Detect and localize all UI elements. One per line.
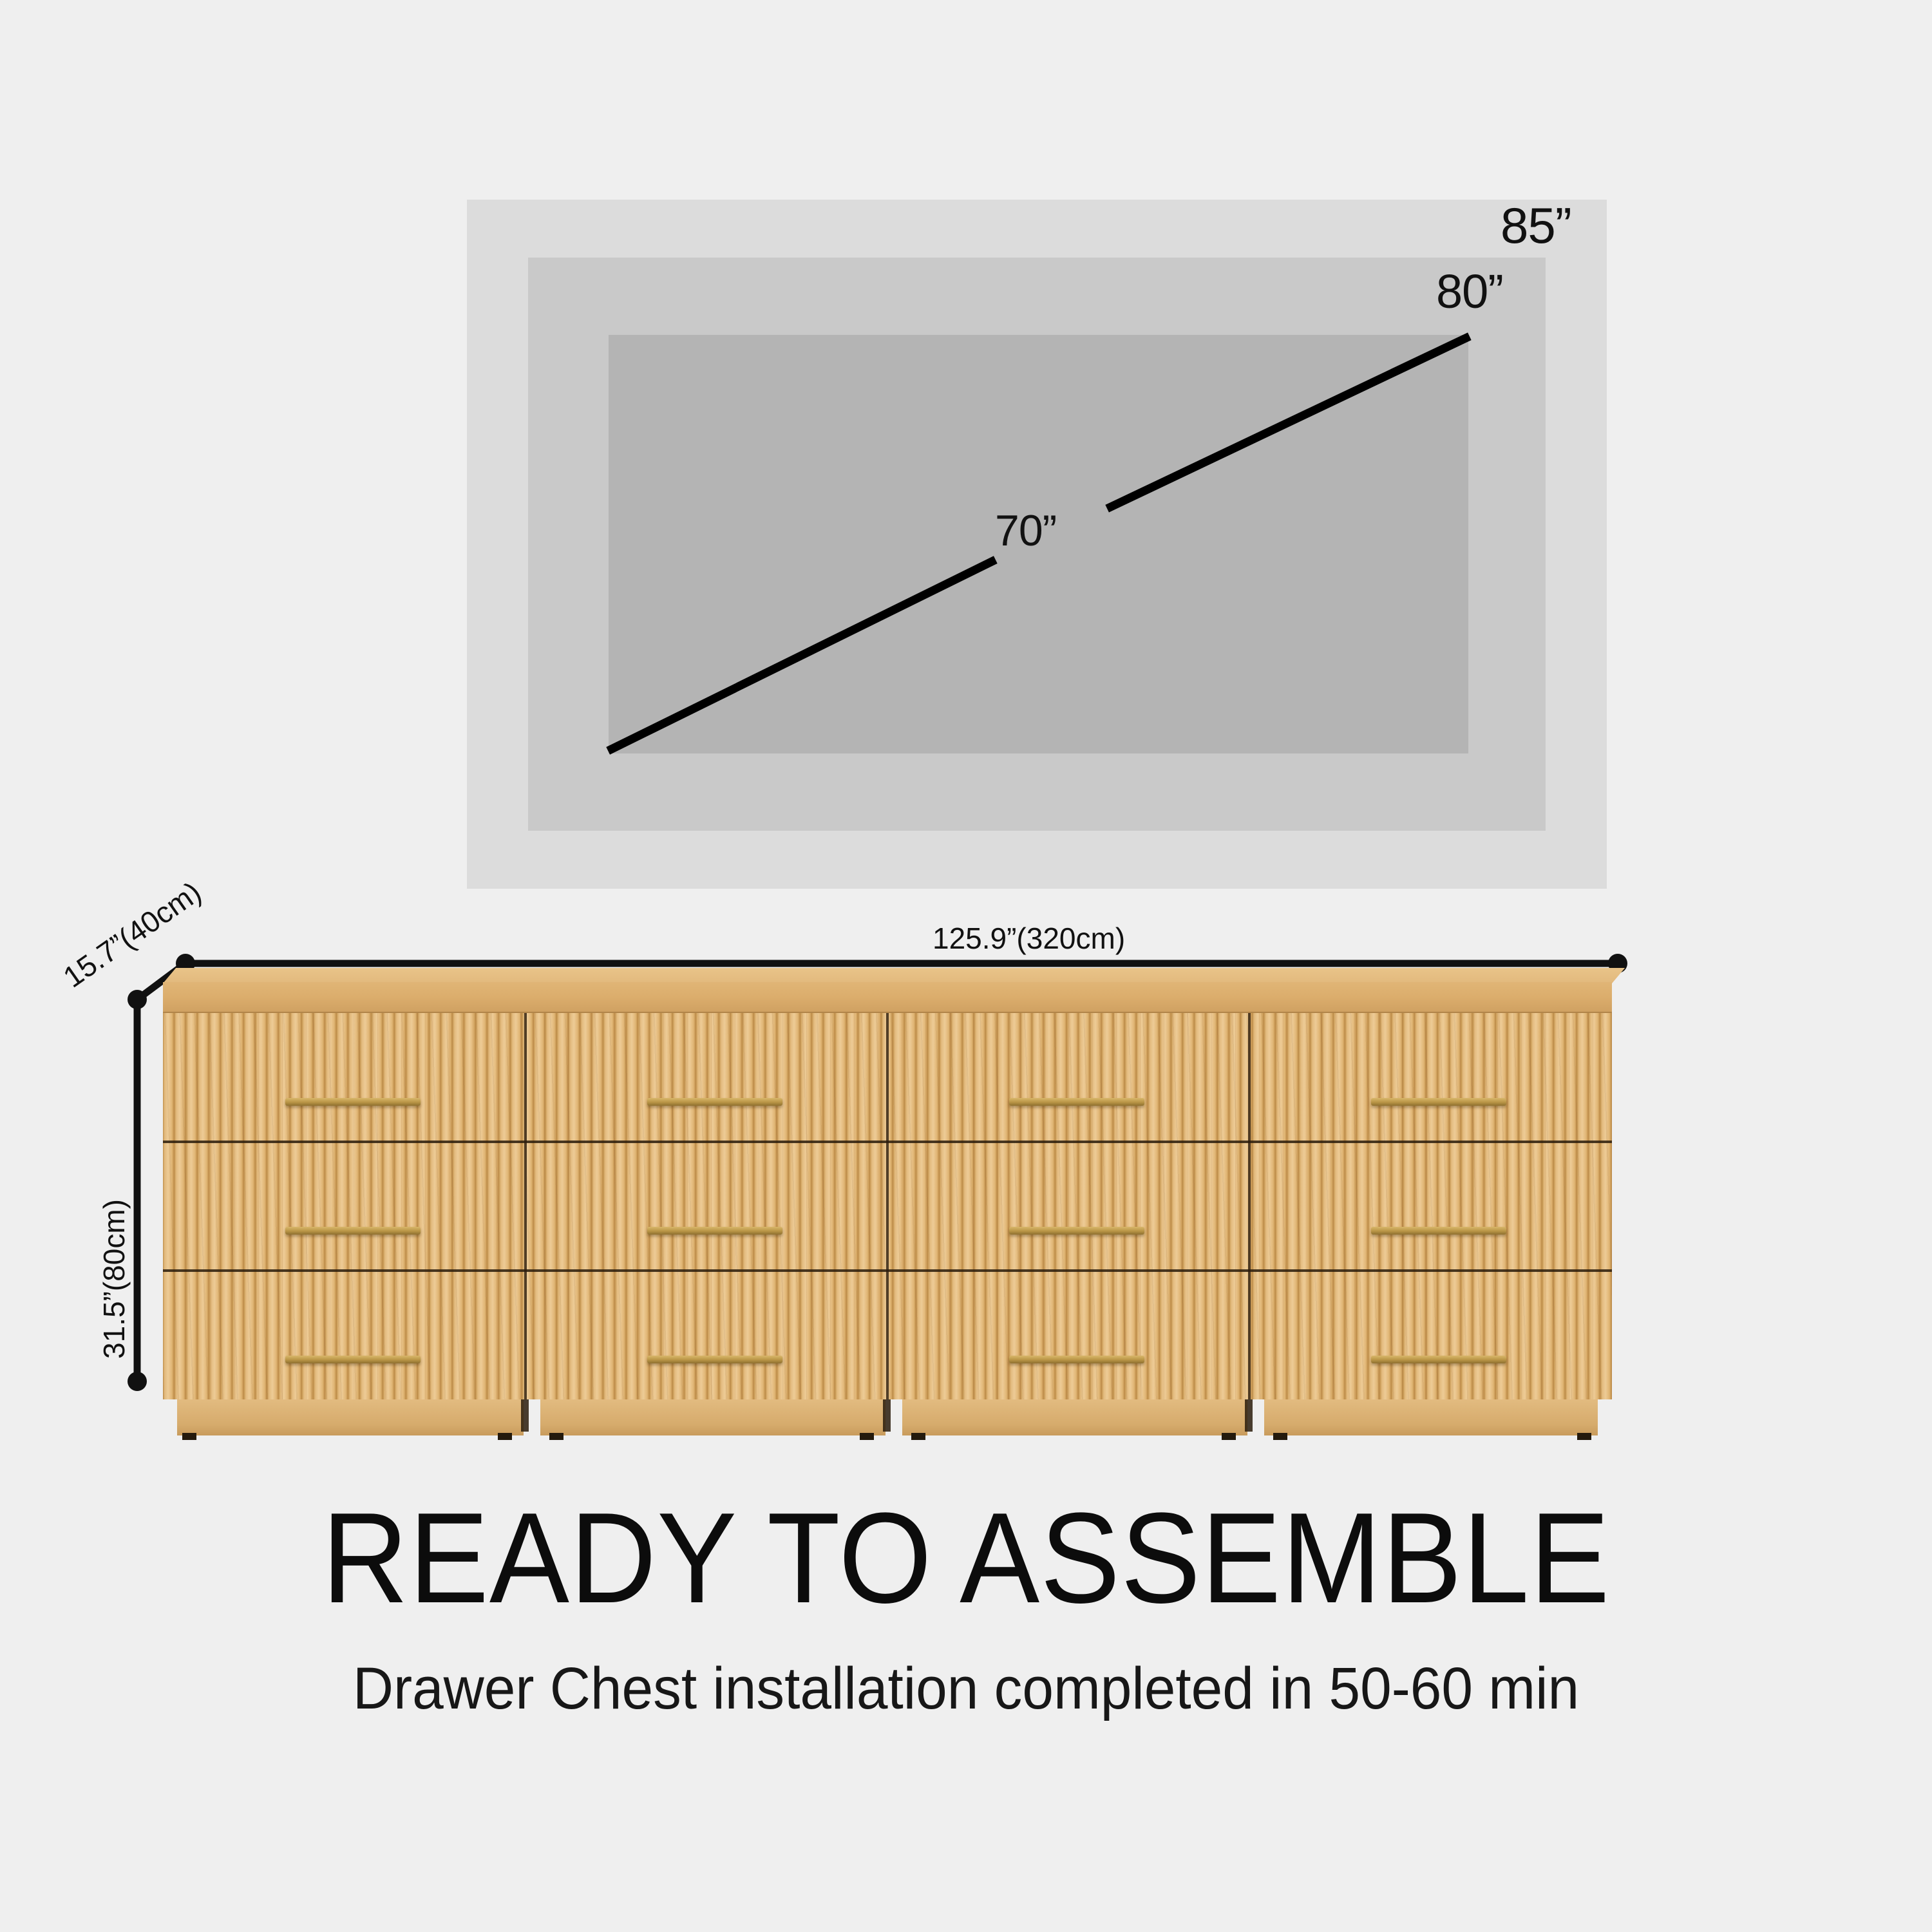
subline-installation-time: Drawer Chest installation completed in 5… xyxy=(48,1655,1884,1723)
drawer-handle[interactable] xyxy=(285,1356,421,1363)
cabinet-unit-divider xyxy=(1248,1013,1251,1399)
chest-foot xyxy=(911,1433,925,1440)
drawer-handle[interactable] xyxy=(647,1098,782,1106)
chest-foot xyxy=(182,1433,196,1440)
dimension-width-label: 125.9”(320cm) xyxy=(933,921,1125,956)
drawer-handle[interactable] xyxy=(1009,1098,1144,1106)
tv-label-70: 70” xyxy=(995,506,1056,556)
chest-foot xyxy=(1222,1433,1236,1440)
tv-label-85: 85” xyxy=(1501,196,1571,255)
cabinet-unit-divider xyxy=(886,1013,889,1399)
chest-foot xyxy=(549,1433,563,1440)
chest-foot xyxy=(860,1433,874,1440)
cabinet-unit-divider xyxy=(524,1013,527,1399)
chest-foot xyxy=(1577,1433,1591,1440)
headline-ready-to-assemble: READY TO ASSEMBLE xyxy=(68,1484,1864,1633)
plinth-shadow xyxy=(521,1399,529,1432)
chest-foot xyxy=(1273,1433,1287,1440)
chest-foot xyxy=(498,1433,512,1440)
drawer-handle[interactable] xyxy=(647,1356,782,1363)
poster-canvas: 85” 80” 70” 125.9”(320cm) 15.7”(40cm) 31… xyxy=(0,0,1932,1932)
chest-top-slab xyxy=(163,982,1612,1013)
plinth-shadow xyxy=(883,1399,891,1432)
drawer-handle[interactable] xyxy=(285,1227,421,1235)
tv-label-80: 80” xyxy=(1436,264,1503,319)
drawer-handle[interactable] xyxy=(647,1227,782,1235)
drawer-chest xyxy=(163,982,1612,1439)
dimension-height-label: 31.5”(80cm) xyxy=(97,1199,131,1359)
drawer-handle[interactable] xyxy=(1009,1356,1144,1363)
drawer-handle[interactable] xyxy=(1371,1227,1506,1235)
chest-drawer-fronts xyxy=(163,1013,1612,1399)
drawer-handle[interactable] xyxy=(1371,1098,1506,1106)
plinth-shadow xyxy=(1245,1399,1253,1432)
chest-top-surface xyxy=(163,968,1625,983)
drawer-handle[interactable] xyxy=(1009,1227,1144,1235)
drawer-handle[interactable] xyxy=(285,1098,421,1106)
drawer-handle[interactable] xyxy=(1371,1356,1506,1363)
